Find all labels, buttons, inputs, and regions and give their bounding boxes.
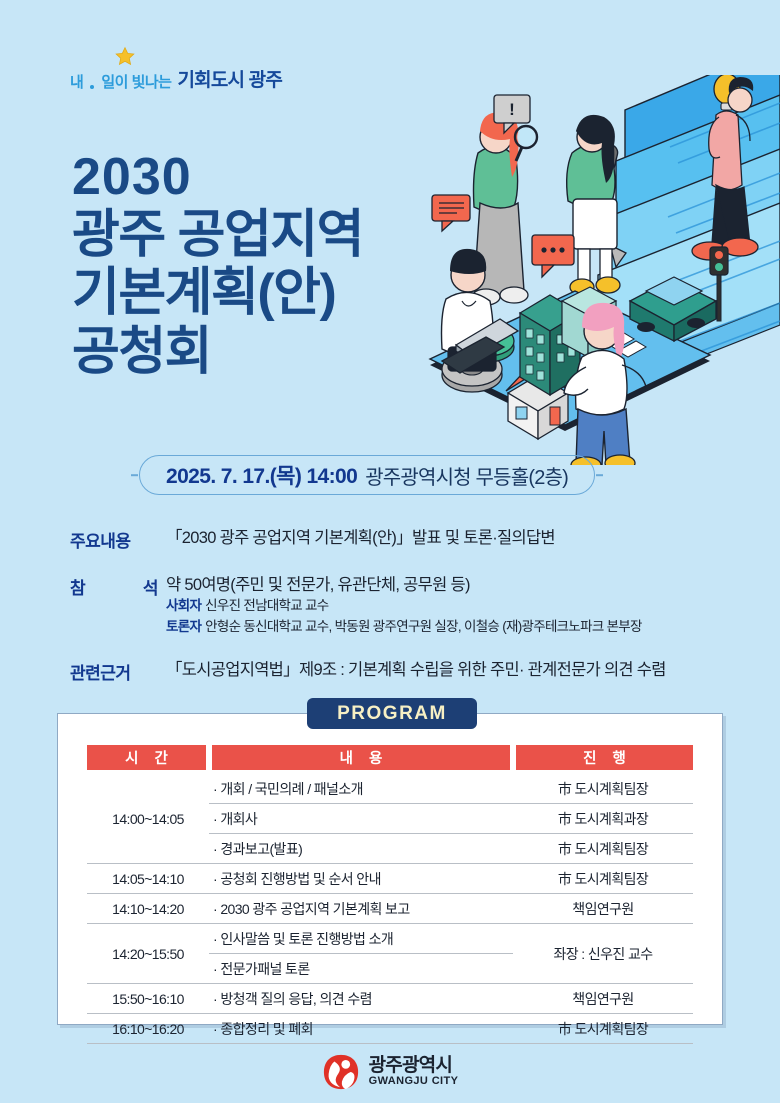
event-info: 주요내용 「2030 광주 공업지역 기본계획(안)」발표 및 토론·질의답변 … [70, 527, 730, 690]
cell-content: · 개회 / 국민의례 / 패널소개 [209, 774, 513, 804]
cell-host: 책임연구원 [513, 894, 693, 924]
program-table: 시 간 내 용 진 행 14:00~14:05 · 개회 / 국민의례 / 패널… [87, 745, 693, 1044]
svg-text:!: ! [509, 100, 515, 119]
program-badge-label: PROGRAM [337, 703, 447, 725]
table-row: 14:20~15:50 · 인사말씀 및 토론 진행방법 소개 좌장 : 신우진… [87, 924, 693, 954]
traffic-light-icon [710, 247, 728, 321]
brand-slogan: 내 일이 빛나는 기회도시 광주 [70, 56, 282, 92]
cell-time: 14:05~14:10 [87, 864, 209, 894]
cell-content: · 종합정리 및 폐회 [209, 1014, 513, 1044]
logo-name-ko: 광주광역시 [369, 1056, 459, 1076]
moderator-value: 신우진 전남대학교 교수 [205, 598, 328, 613]
person-with-lightbulb [692, 75, 758, 260]
info-value-legal-basis: 「도시공업지역법」제9조 : 기본계획 수립을 위한 주민· 관계전문가 의견 … [166, 659, 730, 681]
title-line-3: 기본계획(안) [72, 264, 363, 322]
title-line-4: 공청회 [72, 323, 363, 381]
star-icon [114, 46, 136, 68]
info-label-legal-basis: 관련근거 [70, 659, 166, 684]
slogan-dot [90, 85, 94, 89]
gwangju-city-mark-icon [322, 1053, 360, 1091]
event-venue: 광주광역시청 무등홀(2층) [365, 461, 568, 490]
cell-time: 14:10~14:20 [87, 894, 209, 924]
cell-content: · 전문가패널 토론 [209, 954, 513, 984]
cell-host: 책임연구원 [513, 984, 693, 1014]
program-badge: PROGRAM [307, 698, 477, 729]
cell-host: 市 도시계획팀장 [513, 834, 693, 864]
info-row-attendance: 참 석 약 50여명(주민 및 전문가, 유관단체, 공무원 등) 사회자신우진… [70, 574, 730, 637]
cell-host: 市 도시계획과장 [513, 804, 693, 834]
table-row: 16:10~16:20 · 종합정리 및 폐회 市 도시계획팀장 [87, 1014, 693, 1044]
gear-icon [442, 326, 514, 392]
date-venue-badge: 2025. 7. 17.(목) 14:00 광주광역시청 무등홀(2층) [139, 455, 595, 495]
city-platform [430, 247, 728, 439]
cell-host: 좌장 : 신우진 교수 [513, 924, 693, 984]
event-datetime: 2025. 7. 17.(목) 14:00 [166, 460, 357, 490]
info-sub-panelists: 토론자안형순 동신대학교 교수, 박동원 광주연구원 실장, 이철승 (재)광주… [166, 617, 730, 637]
info-label-attendance-char1: 참 [70, 574, 85, 599]
table-row: 14:05~14:10 · 공청회 진행방법 및 순서 안내 市 도시계획팀장 [87, 864, 693, 894]
speech-bubble-dots [532, 235, 574, 277]
hero-illustration: ! [420, 75, 780, 465]
cell-content: · 인사말씀 및 토론 진행방법 소개 [209, 924, 513, 954]
column-header-host: 진 행 [513, 745, 693, 770]
info-value-main-content: 「2030 광주 공업지역 기본계획(안)」발표 및 토론·질의답변 [166, 527, 730, 549]
footer-logo: 광주광역시 GWANGJU CITY [0, 1053, 780, 1091]
info-label-attendance-char2: 석 [143, 574, 158, 599]
cell-time: 15:50~16:10 [87, 984, 209, 1014]
info-spacer [70, 558, 730, 574]
cell-host: 市 도시계획팀장 [513, 1014, 693, 1044]
badge-tick-left [131, 474, 138, 476]
info-value-attendance: 약 50여명(주민 및 전문가, 유관단체, 공무원 등) [166, 574, 730, 596]
moderator-key: 사회자 [166, 598, 201, 613]
info-row-legal-basis: 관련근거 「도시공업지역법」제9조 : 기본계획 수립을 위한 주민· 관계전문… [70, 659, 730, 684]
cell-time: 16:10~16:20 [87, 1014, 209, 1044]
slogan-mid: 일이 빛나는 [101, 71, 171, 92]
person-with-magnifier [472, 112, 537, 305]
table-row: 15:50~16:10 · 방청객 질의 응답, 의견 수렴 책임연구원 [87, 984, 693, 1014]
cell-content: · 방청객 질의 응답, 의견 수렴 [209, 984, 513, 1014]
speech-bubble-lines [432, 195, 470, 231]
house-icon [506, 357, 570, 439]
person-with-pen [567, 115, 626, 295]
column-header-time: 시 간 [87, 745, 209, 770]
panelists-key: 토론자 [166, 619, 201, 634]
info-row-main-content: 주요내용 「2030 광주 공업지역 기본계획(안)」발표 및 토론·질의답변 [70, 527, 730, 552]
person-with-laptop [442, 249, 519, 373]
info-label-main-content: 주요내용 [70, 527, 166, 552]
table-row: 14:00~14:05 · 개회 / 국민의례 / 패널소개 市 도시계획팀장 [87, 774, 693, 804]
person-pointing [564, 303, 646, 465]
building-icons [520, 287, 616, 395]
slogan-prefix: 내 [70, 71, 83, 92]
panelists-value: 안형순 동신대학교 교수, 박동원 광주연구원 실장, 이철승 (재)광주테크노… [205, 619, 642, 634]
cell-content: · 경과보고(발표) [209, 834, 513, 864]
info-spacer-2 [70, 643, 730, 659]
cell-time: 14:00~14:05 [87, 774, 209, 864]
speech-bubble-exclaim: ! [494, 95, 530, 133]
logo-name-en: GWANGJU CITY [369, 1076, 459, 1088]
badge-tick-right [596, 474, 603, 476]
table-row: 14:10~14:20 · 2030 광주 공업지역 기본계획 보고 책임연구원 [87, 894, 693, 924]
cell-host: 市 도시계획팀장 [513, 864, 693, 894]
cell-content: · 공청회 진행방법 및 순서 안내 [209, 864, 513, 894]
info-sub-moderator: 사회자신우진 전남대학교 교수 [166, 596, 730, 616]
column-header-content: 내 용 [209, 745, 513, 770]
info-label-attendance: 참 석 [70, 574, 166, 599]
poster-root: 내 일이 빛나는 기회도시 광주 [0, 0, 780, 1103]
title-line-1: 2030 [72, 148, 363, 206]
page-title: 2030 광주 공업지역 기본계획(안) 공청회 [72, 148, 363, 381]
table-header-row: 시 간 내 용 진 행 [87, 745, 693, 770]
car-icon [630, 277, 716, 341]
title-line-2: 광주 공업지역 [72, 206, 363, 264]
cell-content: · 개회사 [209, 804, 513, 834]
cell-content: · 2030 광주 공업지역 기본계획 보고 [209, 894, 513, 924]
stair-slab [598, 75, 780, 397]
slogan-main: 기회도시 광주 [177, 65, 282, 92]
cell-host: 市 도시계획팀장 [513, 774, 693, 804]
cell-time: 14:20~15:50 [87, 924, 209, 984]
